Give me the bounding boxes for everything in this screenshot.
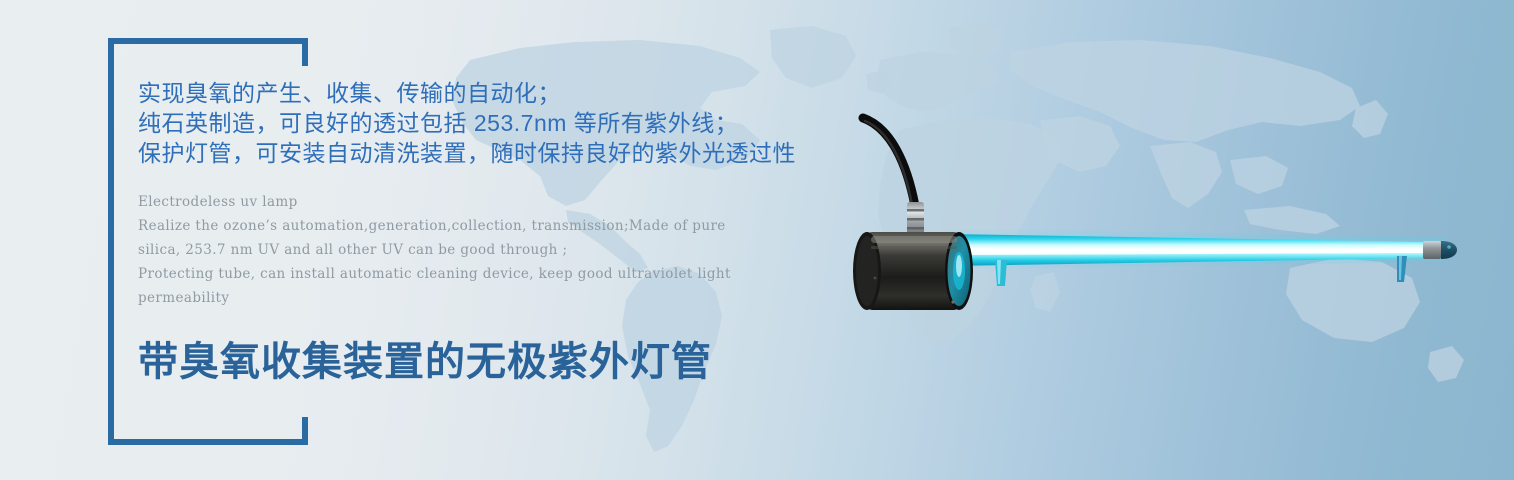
product-image-uv-lamp [845,110,1465,310]
cable-highlight [865,121,912,205]
english-line-5: permeability [138,286,828,310]
english-line-1: Electrodeless uv lamp [138,190,828,214]
product-banner: 实现臭氧的产生、收集、传输的自动化； 纯石英制造，可良好的透过包括 253.7n… [0,0,1514,480]
tube-halo [945,228,1445,270]
headline-line-1: 实现臭氧的产生、收集、传输的自动化； [138,78,838,108]
bracket-top-edge [108,38,308,44]
uv-tube [949,234,1430,266]
ozone-collection-nozzle [995,260,1007,286]
english-line-3: silica, 253.7 nm UV and all other UV can… [138,238,828,262]
lamp-housing [853,232,973,310]
bracket-top-right-stub [302,38,308,66]
tube-end-cap [1423,241,1457,259]
tube-core-highlight [953,248,1429,255]
bracket-bottom-right-stub [302,417,308,445]
bracket-left-edge [108,38,114,445]
ozone-outlet-nozzle [1397,256,1407,282]
headline-chinese: 实现臭氧的产生、收集、传输的自动化； 纯石英制造，可良好的透过包括 253.7n… [138,78,838,168]
power-cable [863,118,915,206]
english-line-2: Realize the ozone’s automation,generatio… [138,214,828,238]
description-english: Electrodeless uv lamp Realize the ozone’… [138,190,828,310]
page-title: 带臭氧收集装置的无极紫外灯管 [138,336,838,388]
banner-text-block: 实现臭氧的产生、收集、传输的自动化； 纯石英制造，可良好的透过包括 253.7n… [138,78,838,388]
bracket-bottom-edge [108,439,308,445]
english-line-4: Protecting tube, can install automatic c… [138,262,828,286]
cable-connector [907,202,924,236]
headline-line-2: 纯石英制造，可良好的透过包括 253.7nm 等所有紫外线； [138,108,838,138]
headline-line-3: 保护灯管，可安装自动清洗装置，随时保持良好的紫外光透过性 [138,138,838,168]
